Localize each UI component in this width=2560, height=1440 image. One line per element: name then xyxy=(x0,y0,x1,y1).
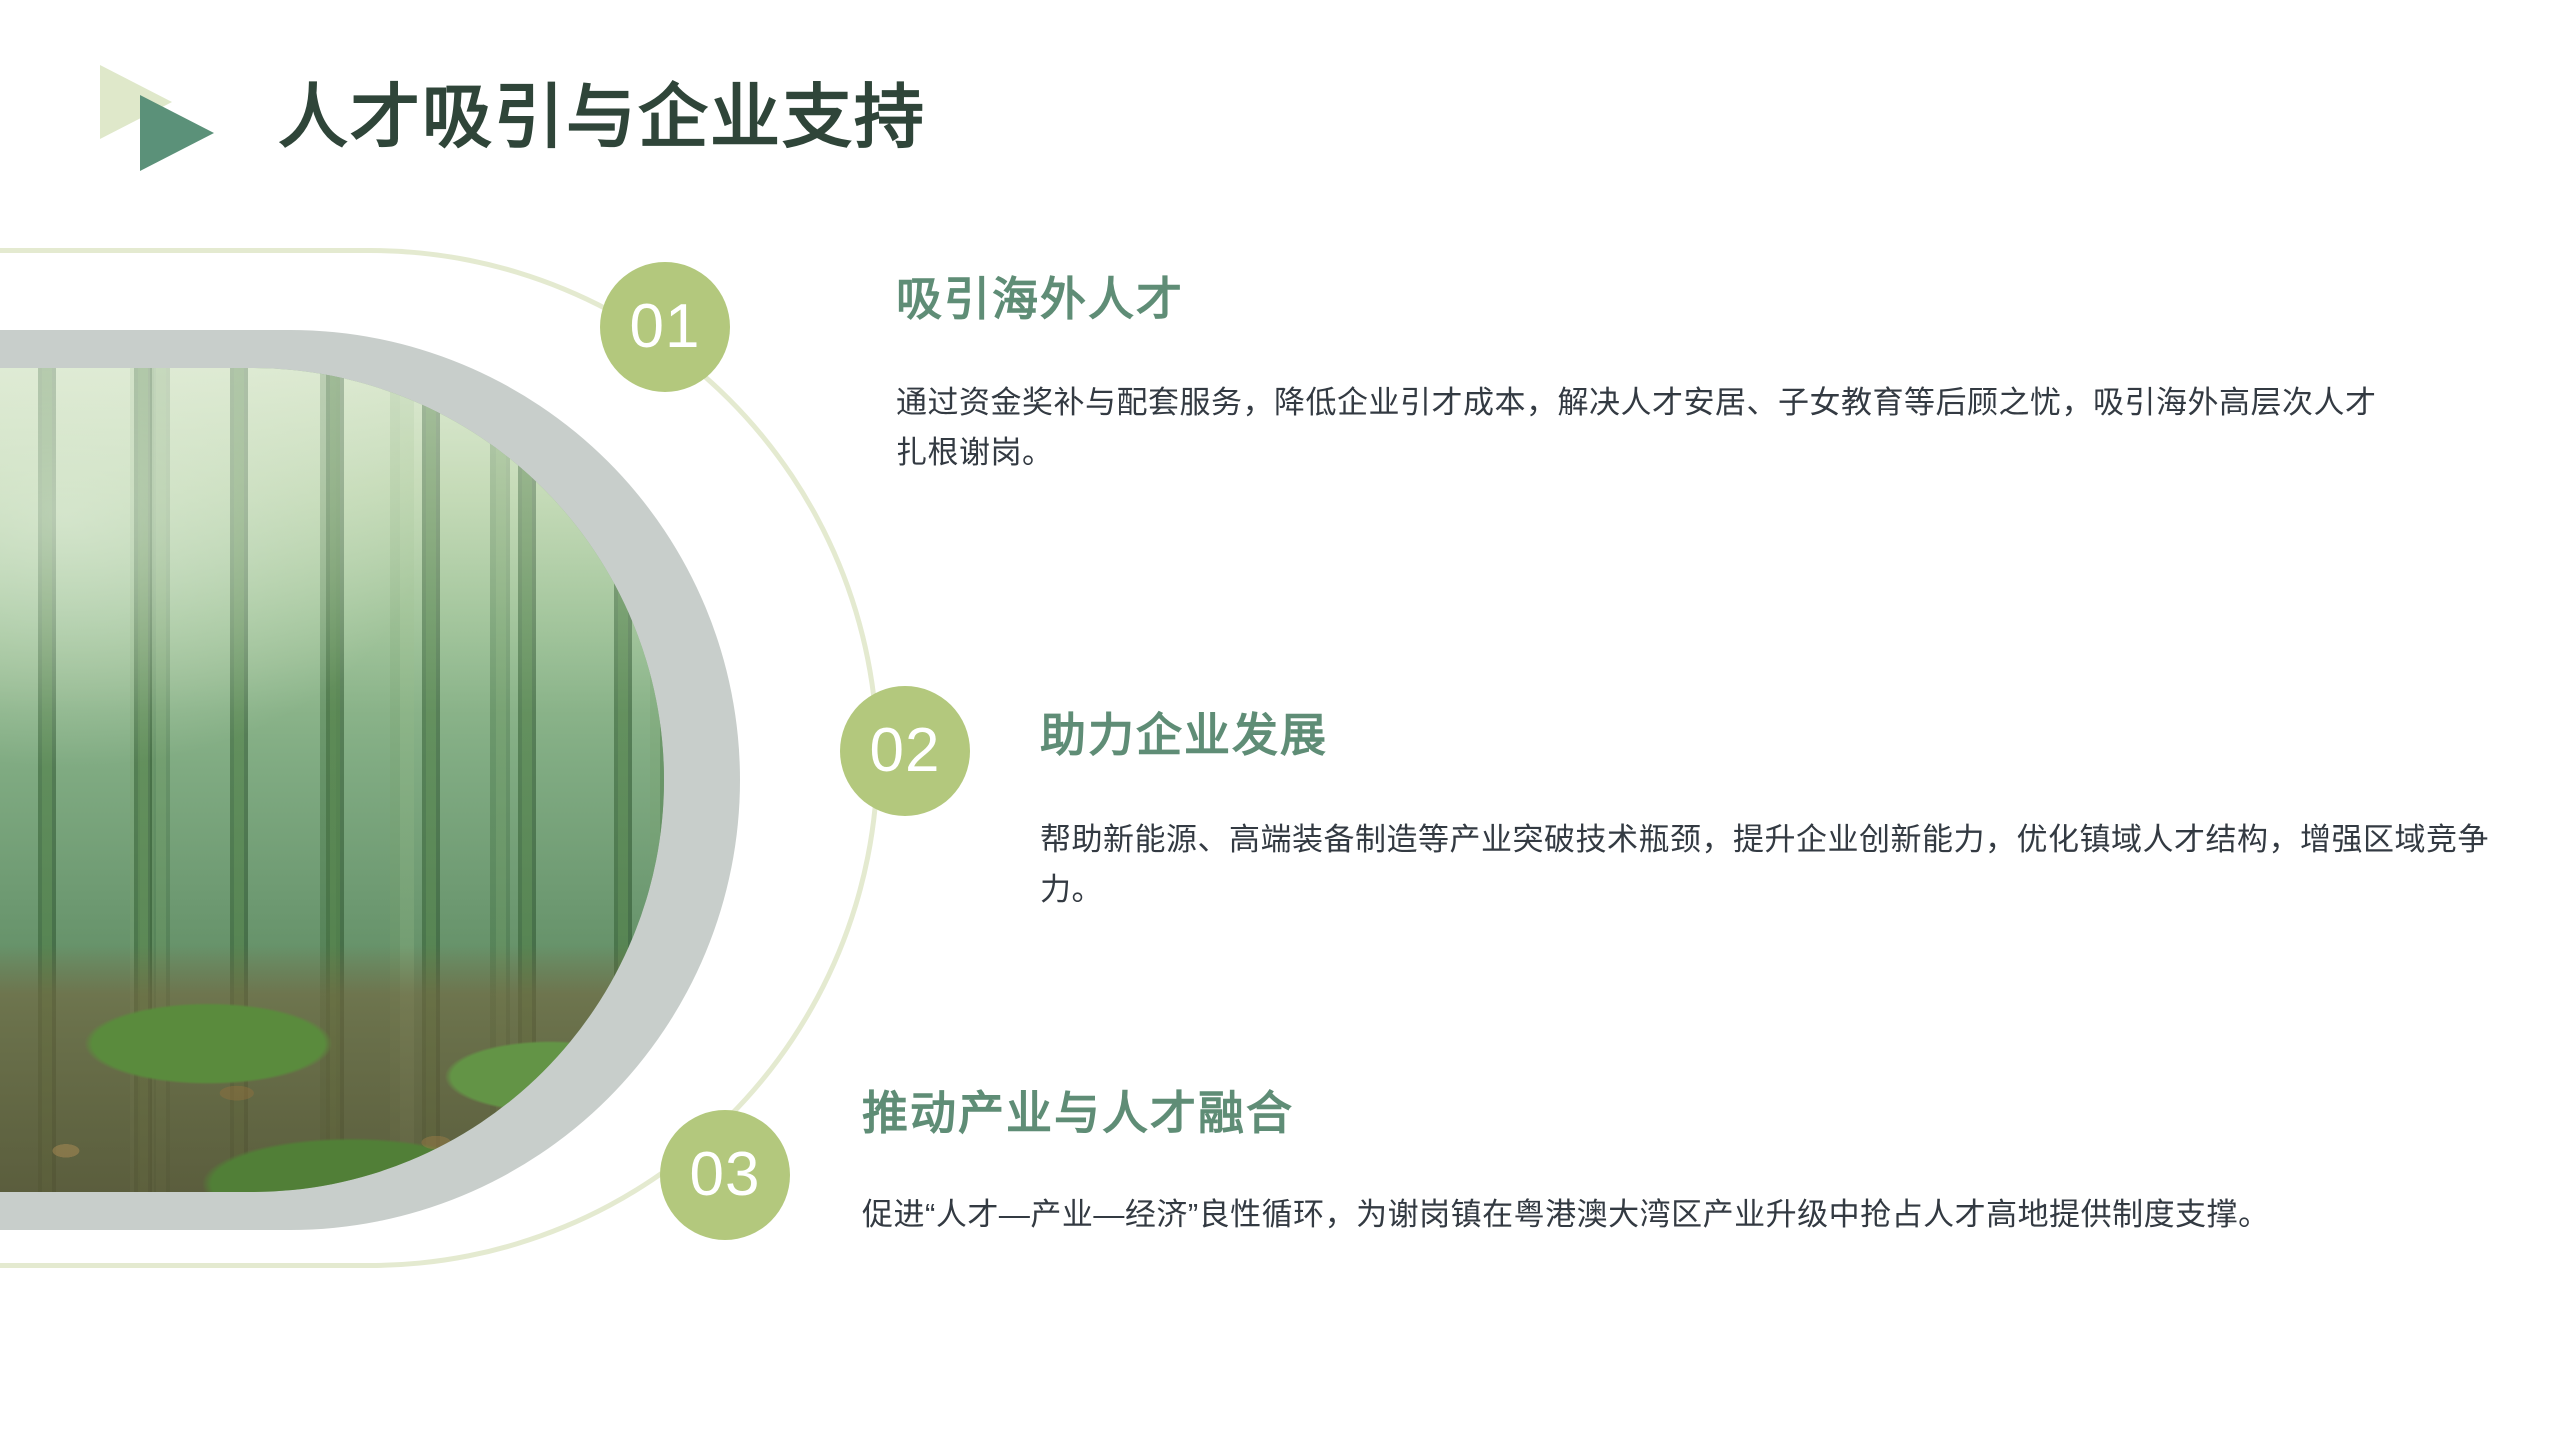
step-number-badge-01: 01 xyxy=(600,262,730,392)
page-title: 人才吸引与企业支持 xyxy=(278,82,926,152)
step-body-02: 帮助新能源、高端装备制造等产业突破技术瓶颈，提升企业创新能力，优化镇域人才结构，… xyxy=(1040,815,2550,915)
bamboo-forest-image xyxy=(0,368,664,1192)
play-triangle-front-icon xyxy=(140,95,214,171)
bamboo-forest-photo xyxy=(0,368,664,1192)
step-heading-02: 助力企业发展 xyxy=(1040,712,1328,758)
step-body-01: 通过资金奖补与配套服务，降低企业引才成本，解决人才安居、子女教育等后顾之忧，吸引… xyxy=(896,378,2406,478)
gray-ring-shape xyxy=(0,330,740,1230)
step-heading-01: 吸引海外人才 xyxy=(896,276,1184,322)
step-body-03: 促进“人才—产业—经济”良性循环，为谢岗镇在粤港澳大湾区产业升级中抢占人才高地提… xyxy=(862,1190,2372,1240)
play-triangle-icon xyxy=(100,65,218,169)
slide-title-row: 人才吸引与企业支持 xyxy=(100,62,926,172)
step-heading-03: 推动产业与人才融合 xyxy=(862,1090,1294,1136)
step-number-badge-02: 02 xyxy=(840,686,970,816)
step-number-badge-03: 03 xyxy=(660,1110,790,1240)
